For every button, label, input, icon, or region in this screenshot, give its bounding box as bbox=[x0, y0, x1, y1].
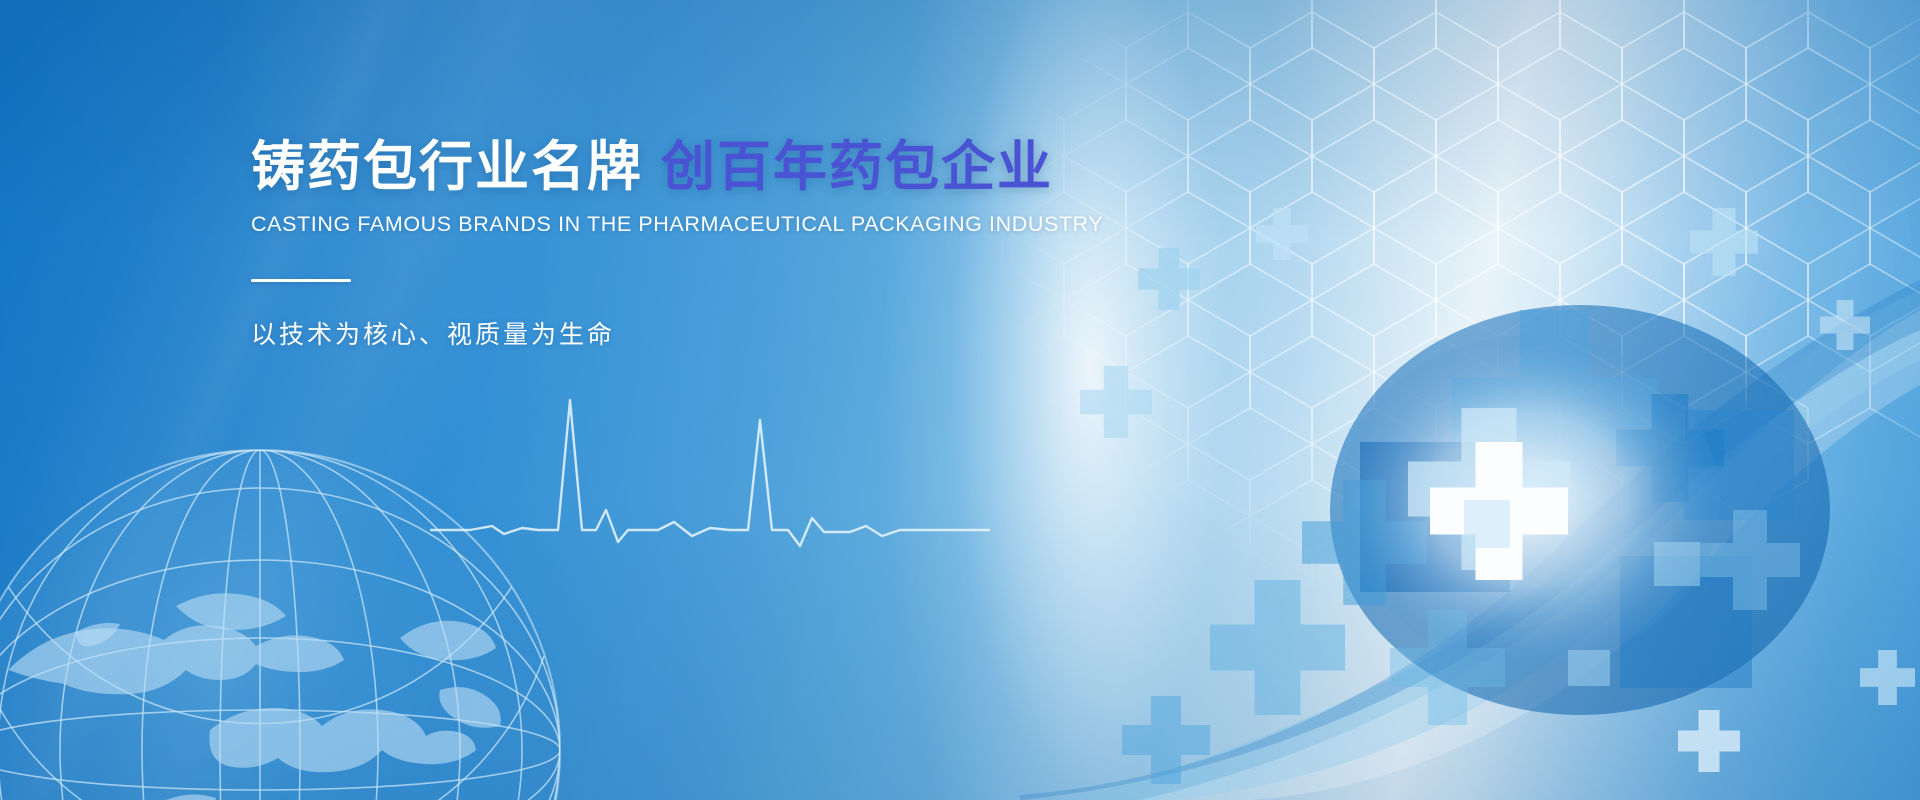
globe-wireframe-graphic bbox=[0, 370, 640, 800]
light-sheen-streak bbox=[0, 0, 1026, 800]
light-sheen-streak-secondary bbox=[0, 0, 632, 800]
headline-subtitle: CASTING FAMOUS BRANDS IN THE PHARMACEUTI… bbox=[251, 212, 1251, 237]
banner-copy-block: 铸药包行业名牌创百年药包企业 CASTING FAMOUS BRANDS IN … bbox=[251, 140, 1251, 351]
heartbeat-ekg-line-graphic bbox=[430, 360, 990, 600]
headline-primary: 铸药包行业名牌 bbox=[251, 137, 643, 197]
ribbon-swoosh-graphic bbox=[1020, 280, 1920, 800]
center-glow-column bbox=[880, 0, 1300, 800]
vertical-shade-overlay bbox=[0, 0, 1920, 800]
hero-banner: 铸药包行业名牌创百年药包企业 CASTING FAMOUS BRANDS IN … bbox=[0, 0, 1920, 800]
headline-accent: 创百年药包企业 bbox=[661, 137, 1053, 197]
divider-rule bbox=[251, 279, 351, 282]
page-title: 铸药包行业名牌创百年药包企业 bbox=[251, 140, 1251, 194]
banner-tagline: 以技术为核心、视质量为生命 bbox=[251, 315, 1251, 351]
